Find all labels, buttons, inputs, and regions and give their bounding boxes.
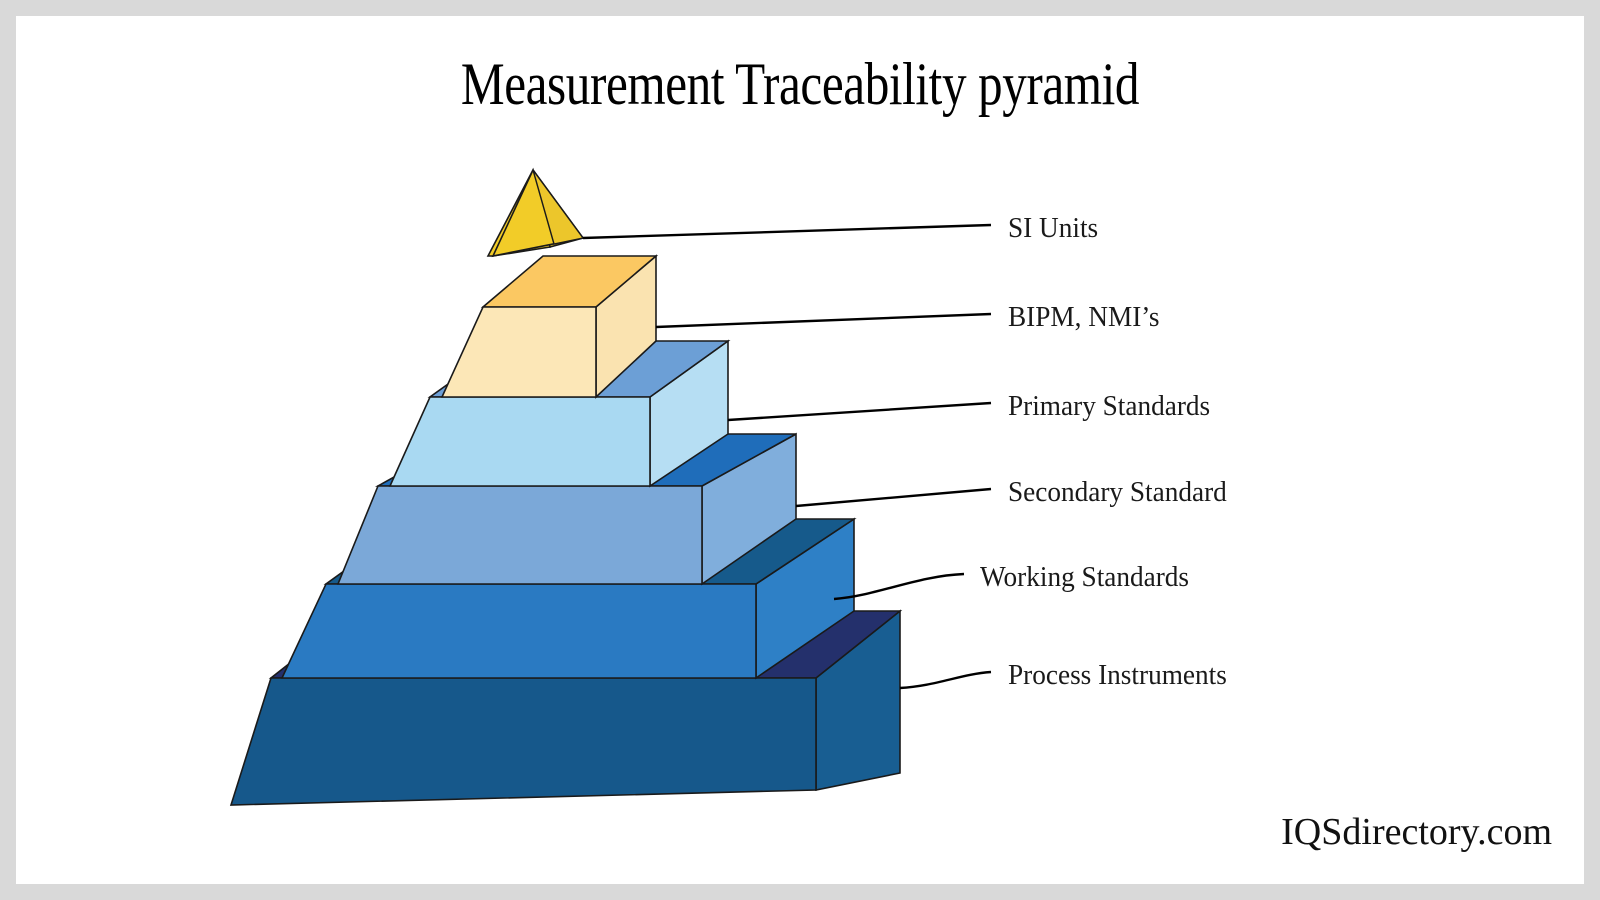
leader-line-primary-standards [728,403,991,420]
leader-line-si-units [583,225,991,238]
watermark-text: IQSdirectory.com [1281,810,1552,854]
level-5-front-face [282,584,756,678]
level-2-front-face [442,307,596,397]
leader-line-bipm-nmis [656,314,991,327]
callout-label-secondary-standard[interactable]: Secondary Standard [1008,476,1227,509]
pyramid-level-si-units[interactable] [488,170,583,256]
pyramid-stage: SI Units BIPM, NMI’s Primary Standards S… [16,16,1584,884]
leader-line-secondary-standard [796,489,991,506]
callout-label-si-units[interactable]: SI Units [1008,212,1098,245]
level-4-front-face [338,486,702,584]
pyramid-svg [16,16,1584,884]
callout-label-primary-standards[interactable]: Primary Standards [1008,390,1210,423]
leader-line-process-instruments [900,672,991,688]
callout-label-working-standards[interactable]: Working Standards [980,561,1189,594]
callout-label-bipm-nmis[interactable]: BIPM, NMI’s [1008,301,1159,334]
diagram-canvas: Measurement Traceability pyramid [16,16,1584,884]
level-6-front-face [231,678,816,805]
callout-label-process-instruments[interactable]: Process Instruments [1008,659,1227,692]
level-3-front-face [390,397,650,486]
